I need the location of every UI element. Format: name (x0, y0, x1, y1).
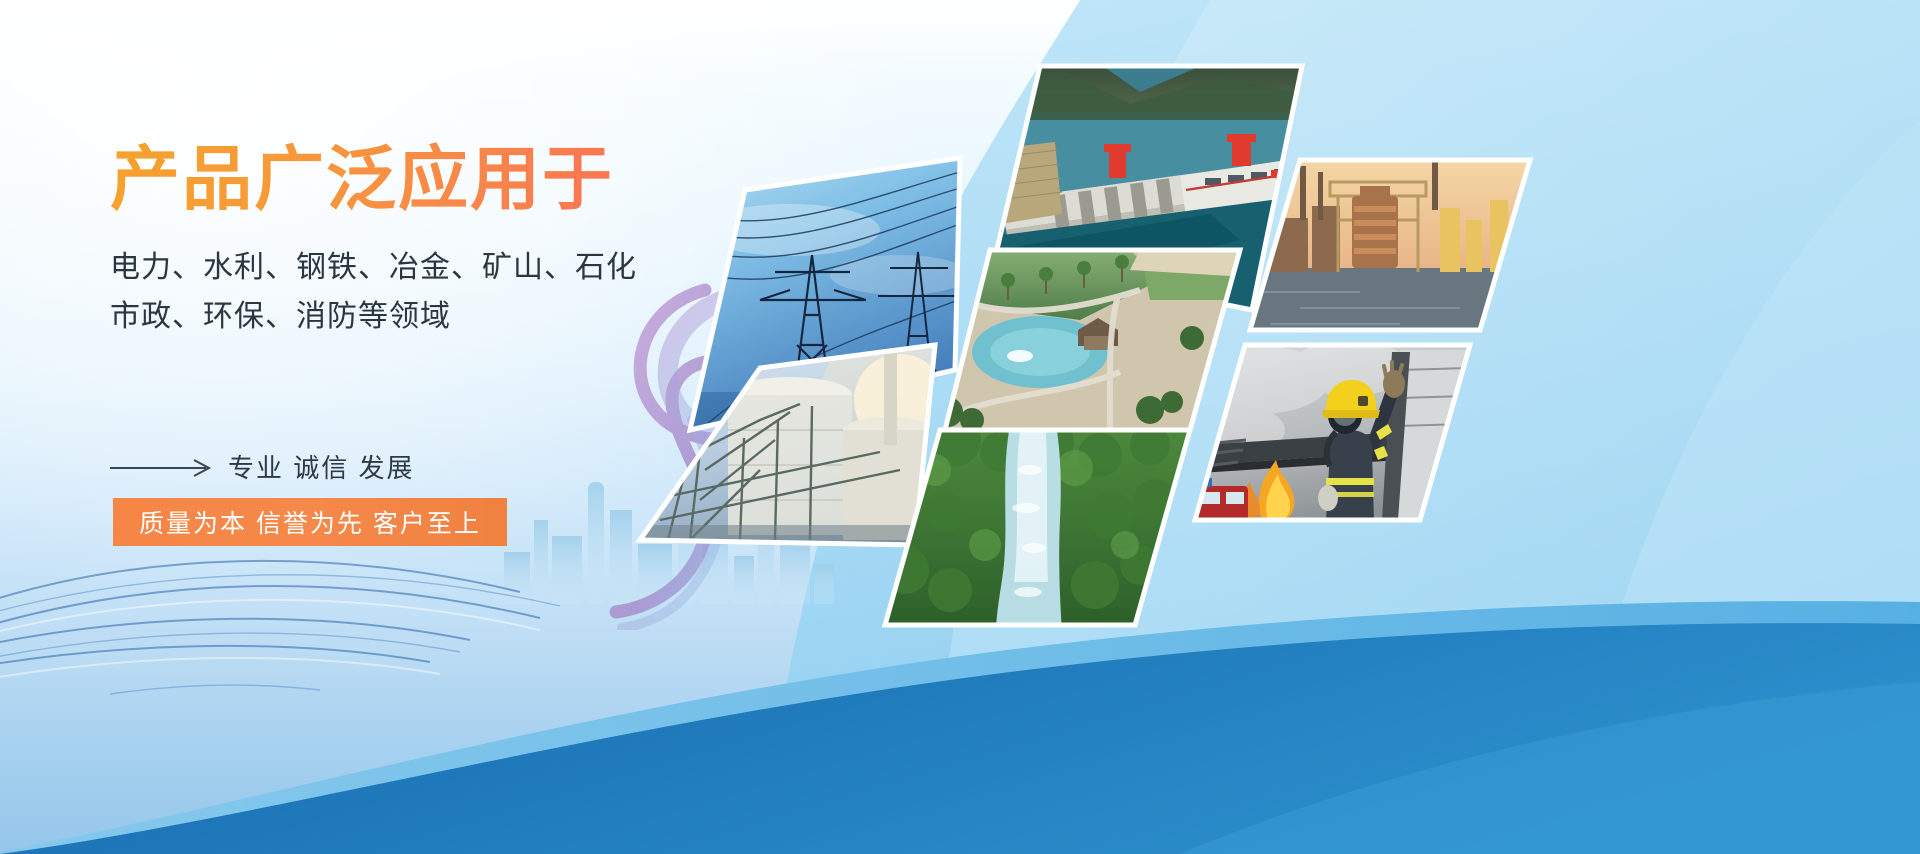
headline-block: 产品广泛应用于 电力、水利、钢铁、冶金、矿山、石化 市政、环保、消防等领域 (110, 140, 810, 342)
promo-banner: 产品广泛应用于 电力、水利、钢铁、冶金、矿山、石化 市政、环保、消防等领域 专业… (0, 0, 1920, 854)
subtitle-line-1: 电力、水利、钢铁、冶金、矿山、石化 (110, 244, 810, 293)
slogan-text: 质量为本 信誉为先 客户至上 (139, 504, 481, 540)
collage-tile-firefighting (1175, 335, 1485, 530)
firefighter-figure (1318, 362, 1405, 520)
bottom-wave (0, 554, 1920, 854)
collage-tile-environment (876, 414, 1200, 635)
subtitle-line-2: 市政、环保、消防等领域 (110, 293, 810, 342)
subtitle-block: 电力、水利、钢铁、冶金、矿山、石化 市政、环保、消防等领域 (110, 244, 810, 341)
page-title: 产品广泛应用于 (110, 140, 810, 218)
collage-tile-petrochemical (630, 320, 980, 565)
blue-swoosh (0, 0, 1920, 854)
city-skyline-silhouette (500, 424, 840, 604)
values-text: 专业 诚信 发展 (228, 448, 414, 485)
values-row: 专业 诚信 发展 (110, 448, 414, 485)
water-reflection-lines (0, 544, 900, 734)
arrow-right-icon (110, 455, 218, 479)
collage-tile-municipal (928, 239, 1260, 440)
slogan-bar: 质量为本 信誉为先 客户至上 (113, 498, 507, 546)
collage-tile-steel (1240, 150, 1540, 348)
background-glow-top-right (1140, 0, 1920, 480)
photo-collage (0, 0, 1920, 854)
collage-tile-hydropower (980, 50, 1320, 330)
